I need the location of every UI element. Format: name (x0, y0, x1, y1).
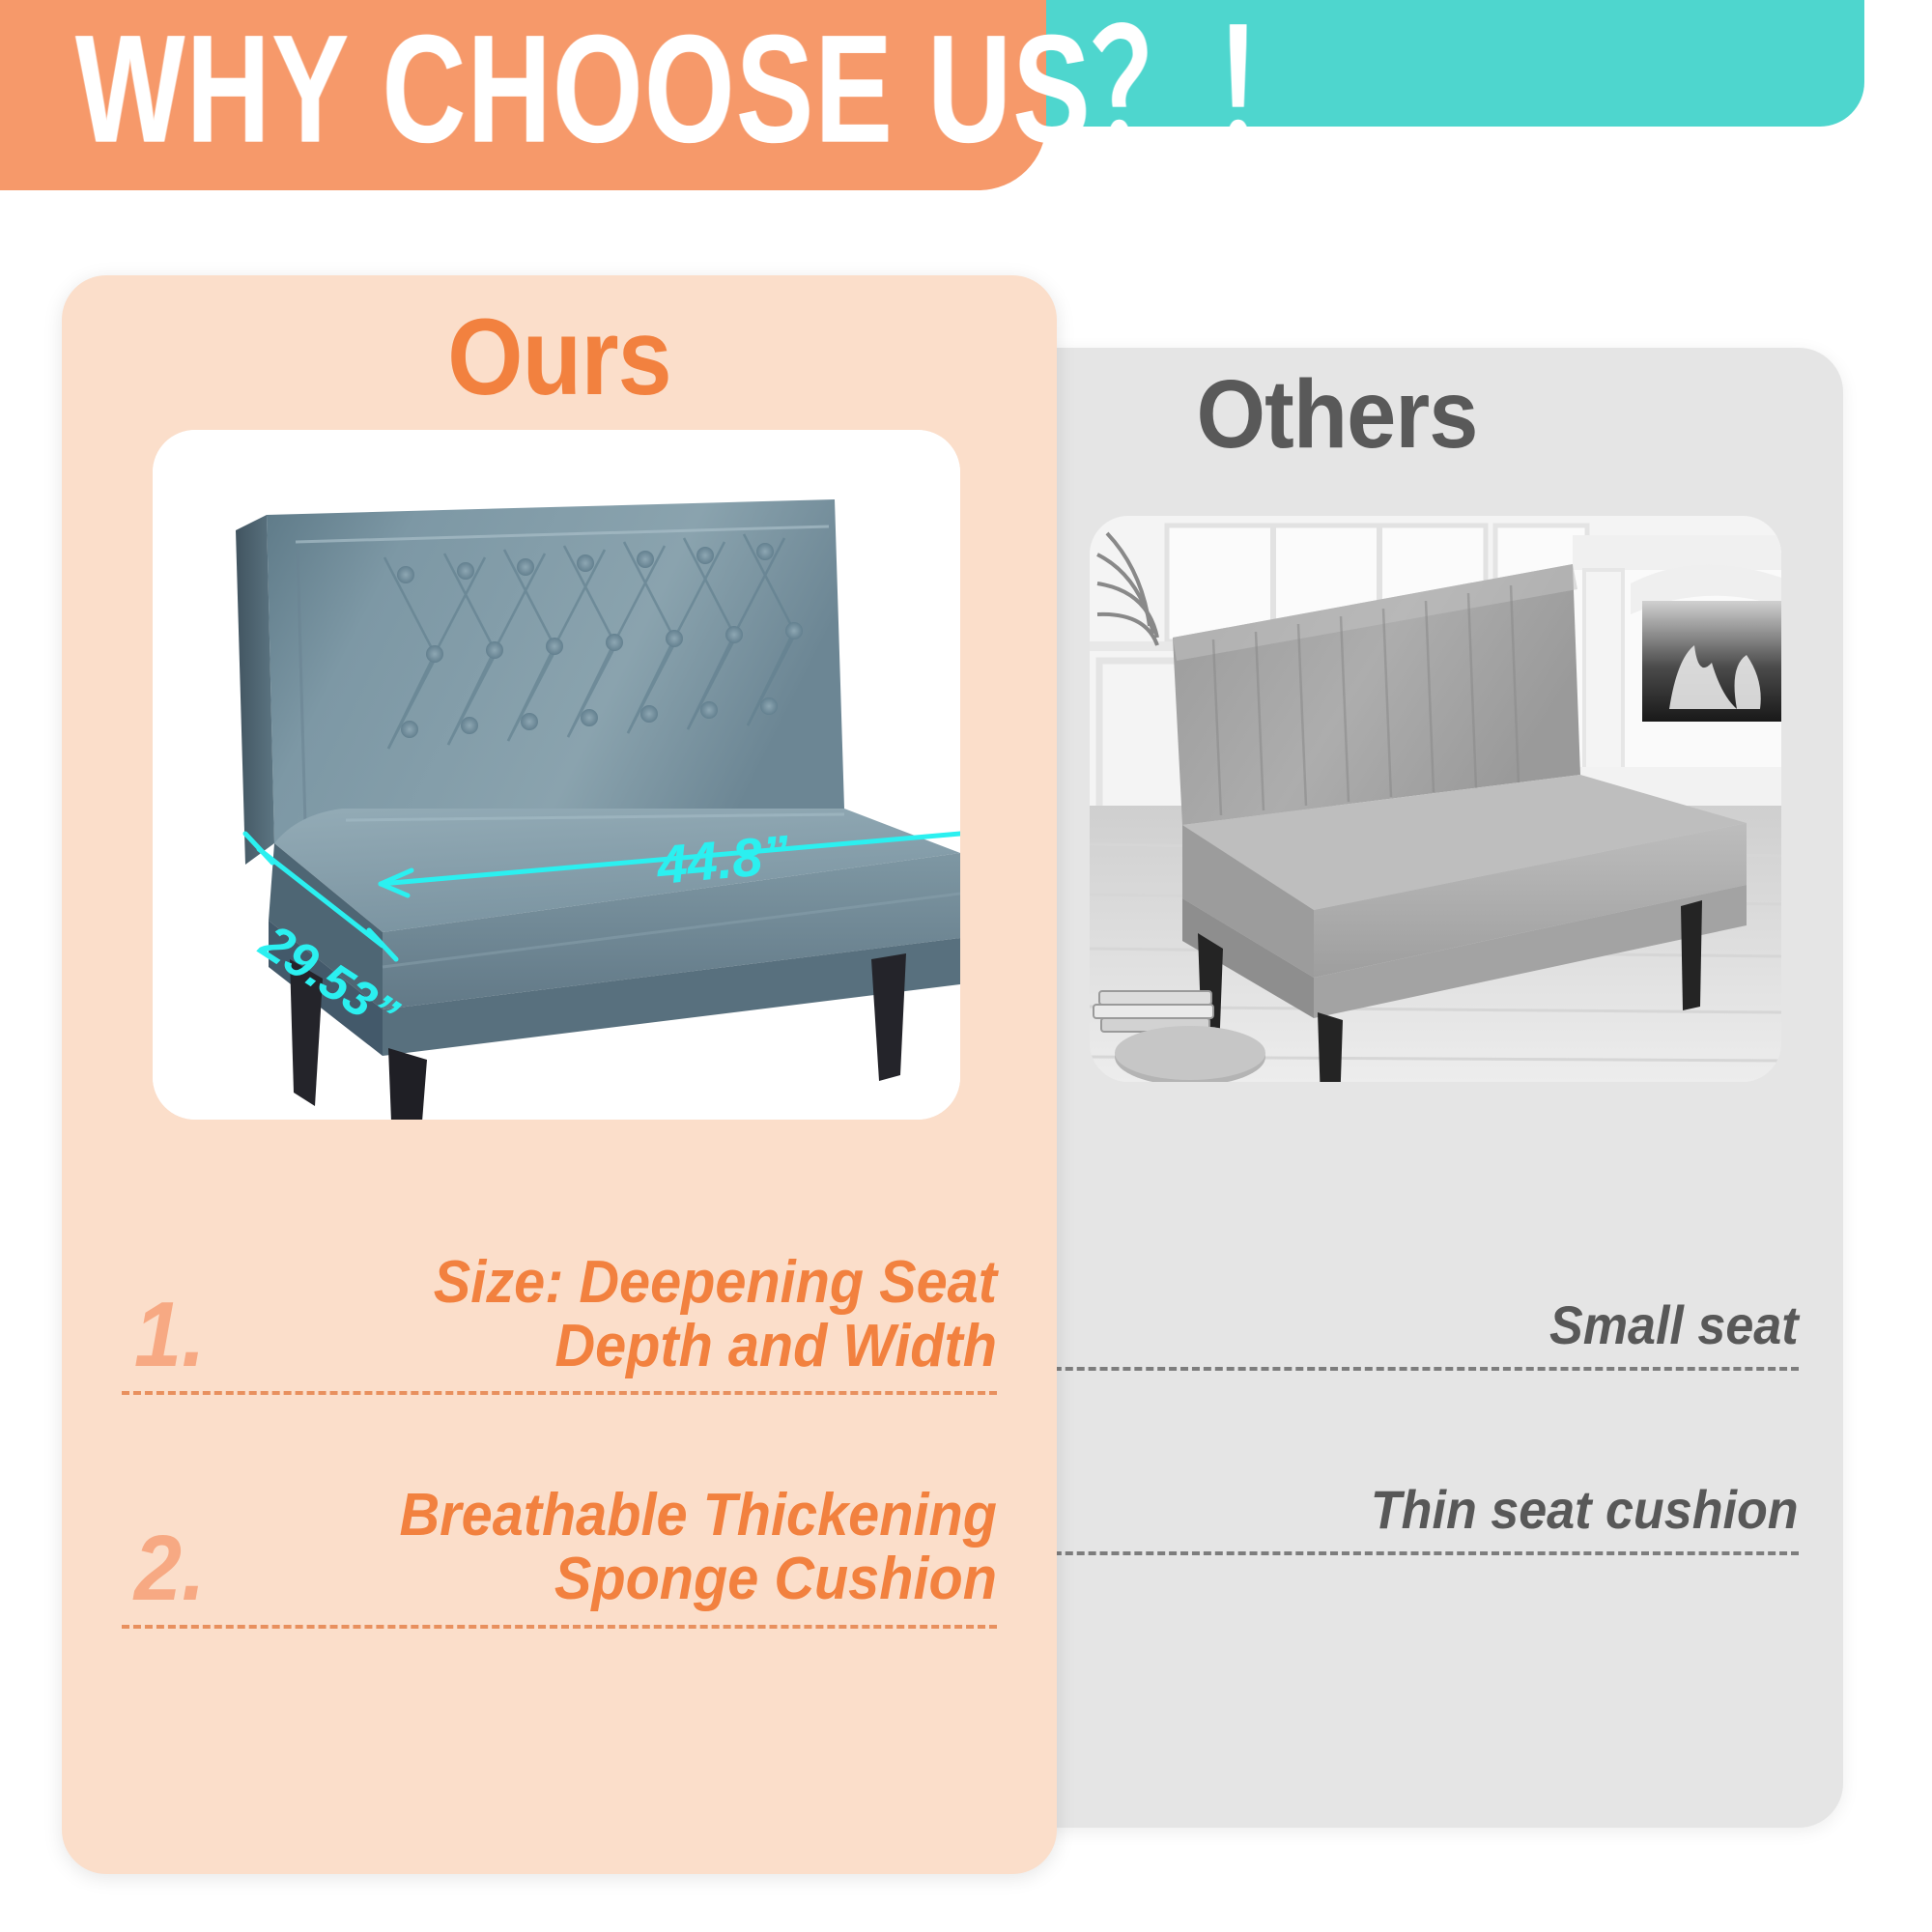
ours-heading: Ours (112, 295, 1008, 419)
header-banner: WHY CHOOSE US？！ (0, 0, 1932, 213)
ours-panel: Ours (62, 275, 1057, 1874)
ours-feature-text-1: Size: Deepening Seat Depth and Width (268, 1251, 997, 1378)
svg-text:44.8”: 44.8” (654, 823, 792, 895)
others-feature-text-2: Thin seat cushion (1024, 1481, 1799, 1538)
others-product-image (1090, 516, 1781, 1082)
ours-feature-number-1: 1. (122, 1293, 206, 1378)
ours-product-image: 44.8” 29.53” (153, 430, 960, 1120)
page-title: WHY CHOOSE US？！ (75, 12, 1326, 165)
others-feature-text-1: Small seat (1024, 1296, 1799, 1353)
ours-feature-row-2: 2. Breathable Thickening Sponge Cushion (122, 1484, 997, 1628)
ours-feature-row-1: 1. Size: Deepening Seat Depth and Width (122, 1251, 997, 1395)
ours-feature-number-2: 2. (122, 1526, 206, 1611)
ours-feature-list: 1. Size: Deepening Seat Depth and Width … (122, 1251, 997, 1629)
ours-feature-text-2: Breathable Thickening Sponge Cushion (268, 1484, 997, 1610)
